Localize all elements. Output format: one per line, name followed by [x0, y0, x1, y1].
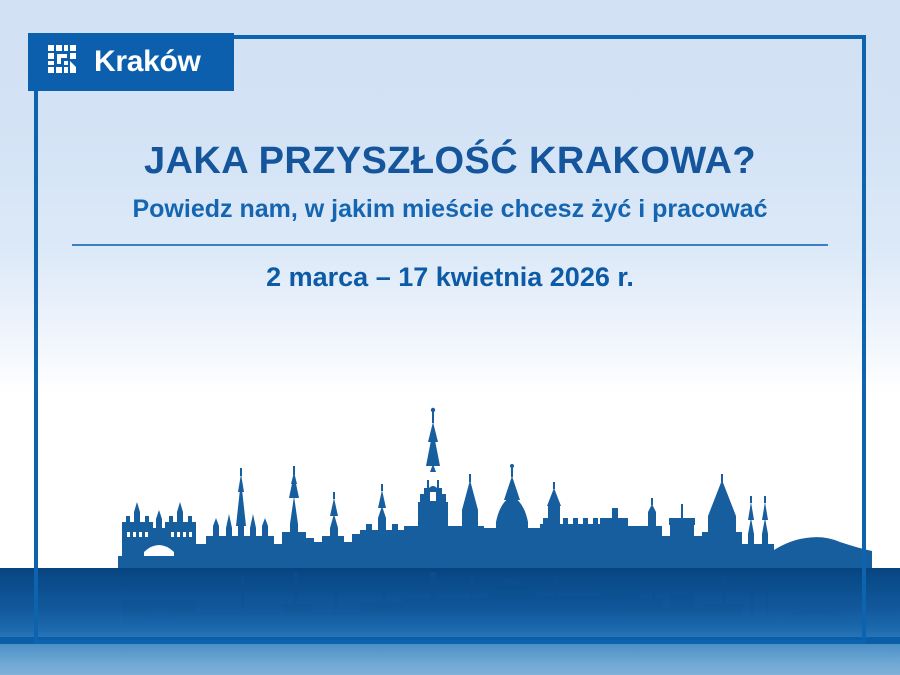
krakow-logo-block[interactable]: Kraków [28, 33, 234, 91]
headline-group: JAKA PRZYSZŁOŚĆ KRAKOWA? Powiedz nam, w … [0, 142, 900, 223]
skyline-reflection [0, 568, 900, 638]
divider-rule [72, 244, 828, 246]
poster-canvas: Kraków JAKA PRZYSZŁOŚĆ KRAKOWA? Powiedz … [0, 0, 900, 675]
water-horizon-band [0, 637, 900, 644]
brand-name: Kraków [94, 47, 201, 77]
city-skyline-silhouette [0, 376, 900, 576]
campaign-dates: 2 marca – 17 kwietnia 2026 r. [0, 262, 900, 293]
page-subtitle: Powiedz nam, w jakim mieście chcesz żyć … [0, 196, 900, 224]
page-title: JAKA PRZYSZŁOŚĆ KRAKOWA? [0, 142, 900, 182]
krakow-squares-logo-icon [48, 45, 82, 79]
